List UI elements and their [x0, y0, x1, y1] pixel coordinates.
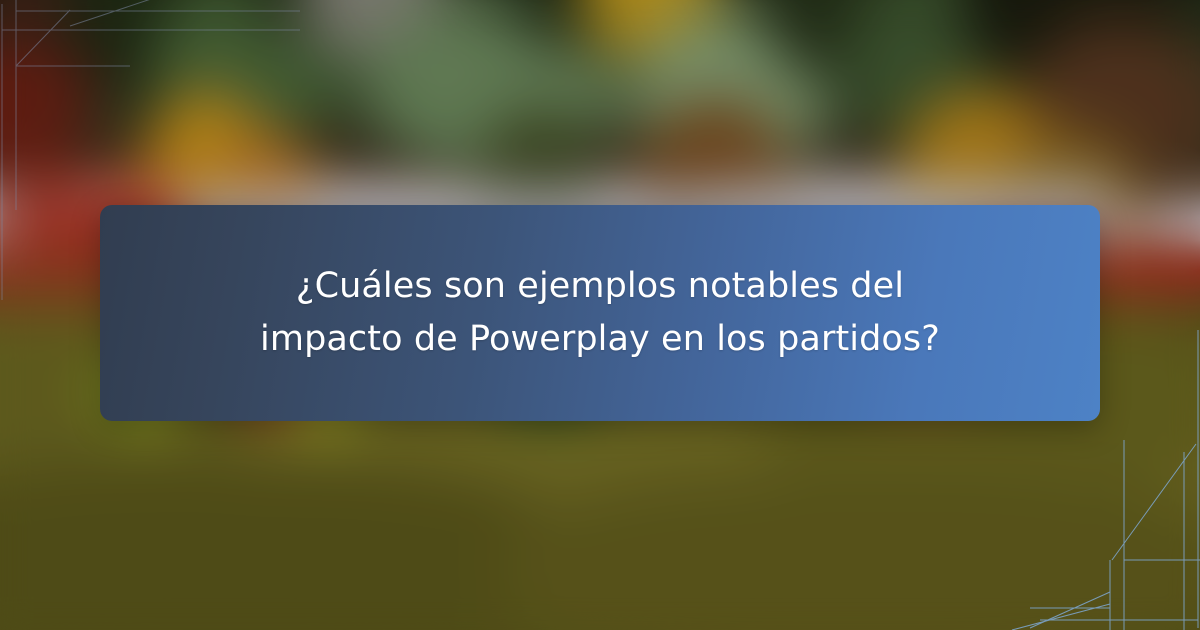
- share-card-canvas: ¿Cuáles son ejemplos notables del impact…: [0, 0, 1200, 630]
- question-card: ¿Cuáles son ejemplos notables del impact…: [100, 205, 1100, 421]
- question-title: ¿Cuáles son ejemplos notables del impact…: [230, 260, 970, 366]
